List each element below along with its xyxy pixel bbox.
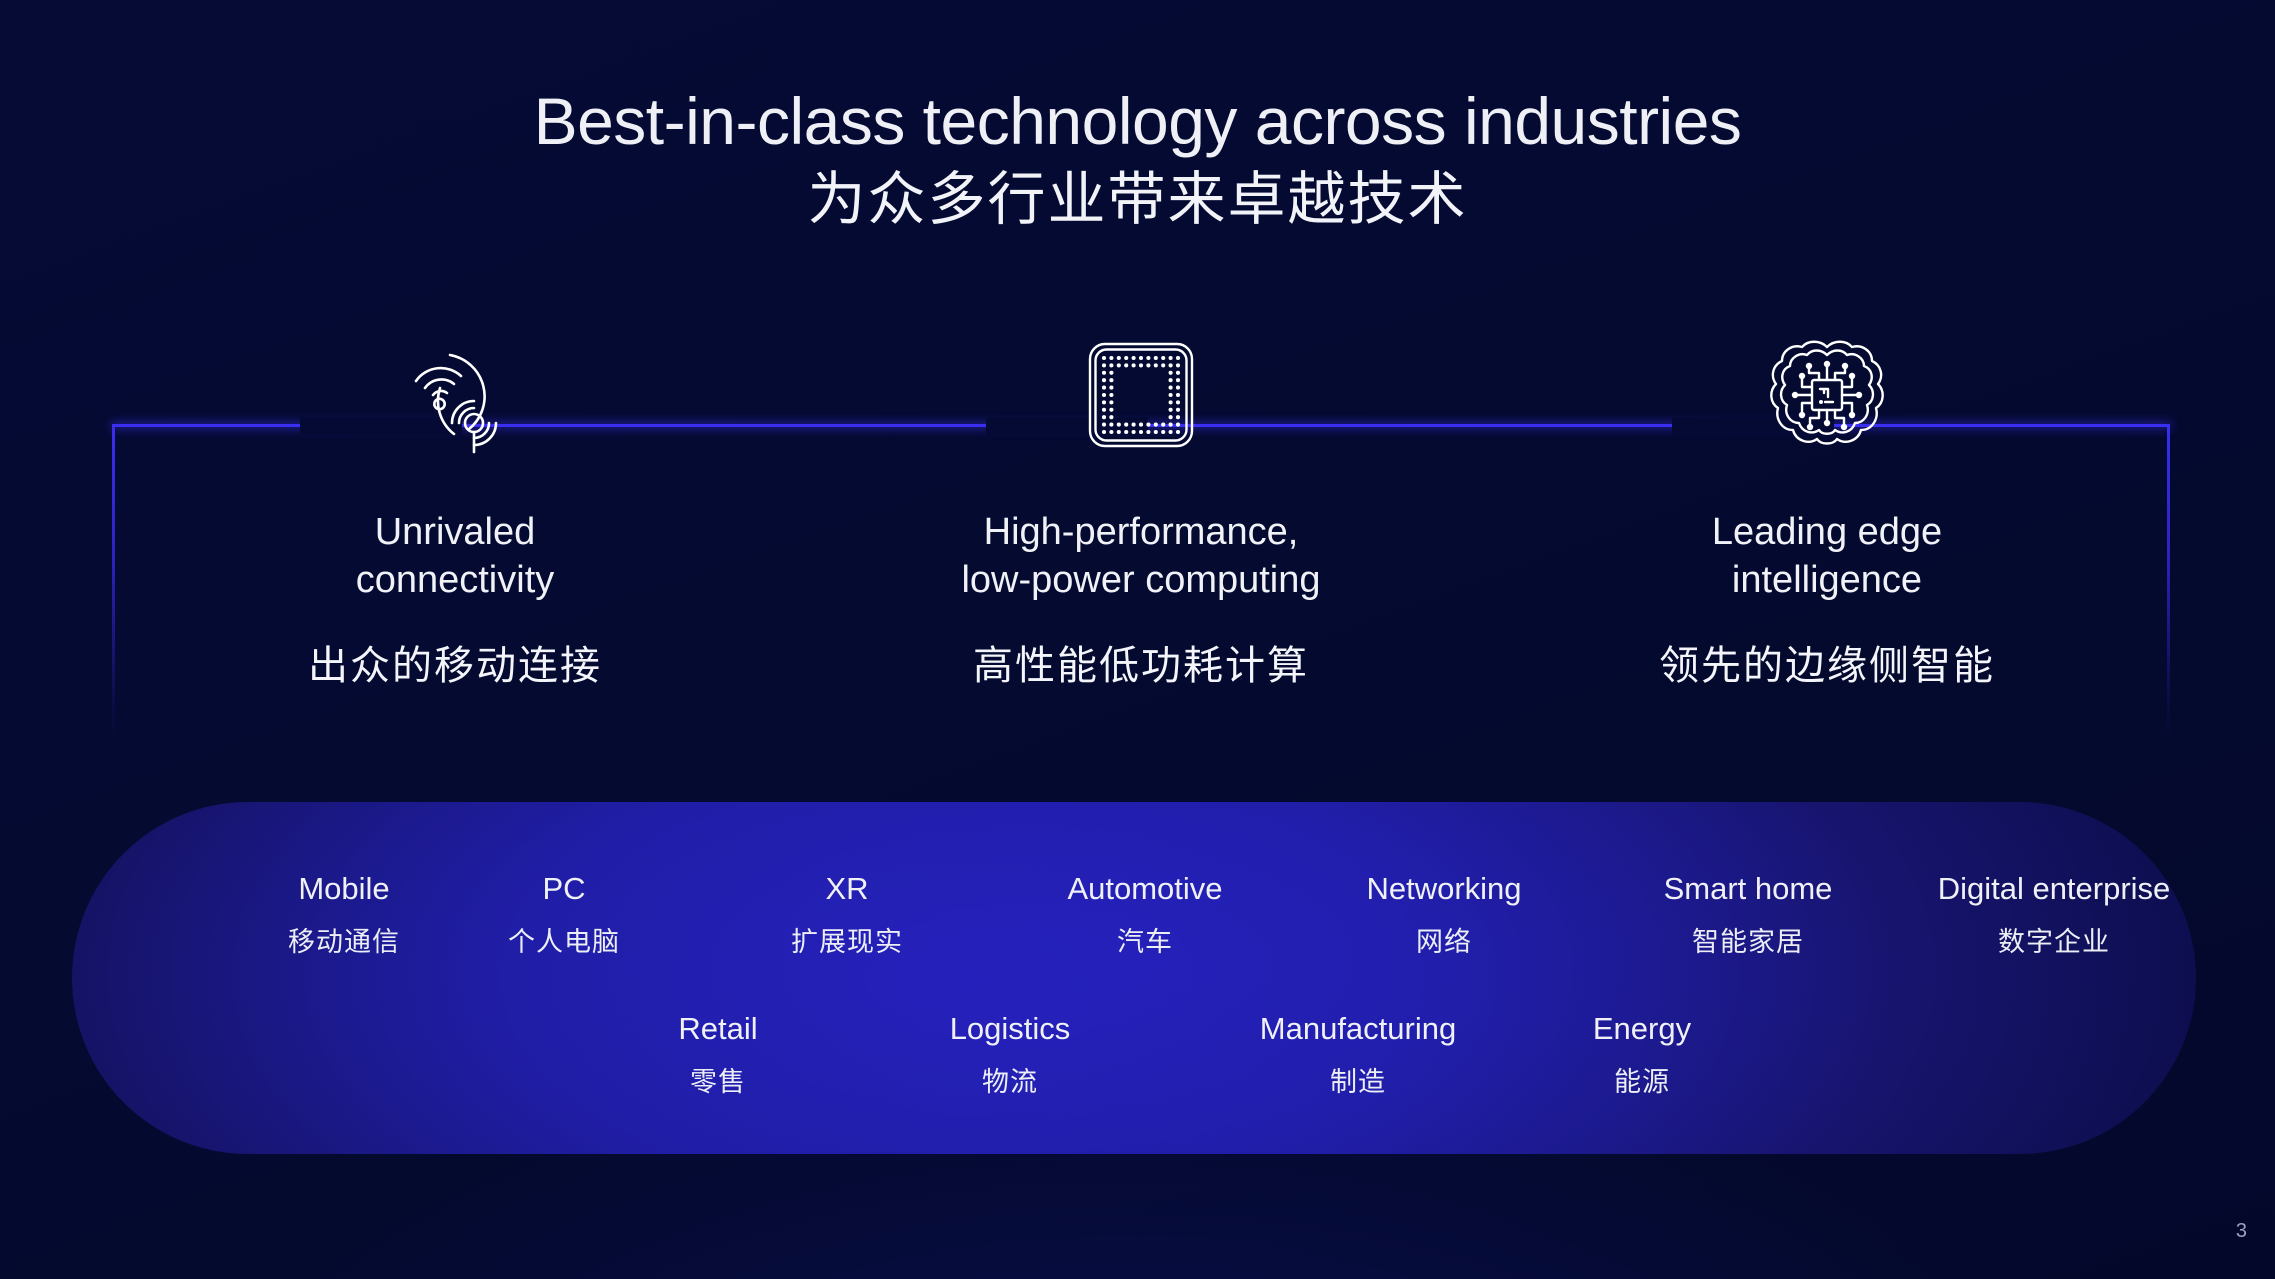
- industry-item[interactable]: Energy能源: [1593, 1010, 1691, 1099]
- industry-label-chinese: 汽车: [1067, 920, 1222, 959]
- ai-brain-icon: [1764, 330, 1890, 460]
- industry-label-english: Networking: [1366, 870, 1521, 907]
- industry-item[interactable]: Mobile移动通信: [288, 870, 400, 959]
- industry-label-english: PC: [508, 870, 620, 907]
- industry-label-chinese: 物流: [950, 1060, 1071, 1099]
- industries-pill-glow: [72, 802, 2196, 1154]
- industry-item[interactable]: Automotive汽车: [1067, 870, 1222, 959]
- title-chinese: 为众多行业带来卓越技术: [0, 167, 2275, 234]
- industry-label-chinese: 能源: [1593, 1060, 1691, 1099]
- industry-item[interactable]: XR扩展现实: [791, 870, 903, 959]
- industries-pill: Mobile移动通信PC个人电脑XR扩展现实Automotive汽车Networ…: [72, 802, 2196, 1154]
- industry-item[interactable]: Digital enterprise数字企业: [1938, 870, 2171, 959]
- industry-item[interactable]: Logistics物流: [950, 1010, 1071, 1099]
- pillar-computing: High-performance, low-power computing 高性…: [798, 330, 1484, 750]
- industry-item[interactable]: PC个人电脑: [508, 870, 620, 959]
- industry-label-chinese: 智能家居: [1664, 920, 1833, 959]
- pillar-connectivity: Unrivaled connectivity 出众的移动连接: [112, 330, 798, 750]
- industry-item[interactable]: Retail零售: [678, 1010, 757, 1099]
- pillar-title-english: Unrivaled connectivity: [356, 508, 555, 605]
- page-title: Best-in-class technology across industri…: [0, 86, 2275, 234]
- industry-label-chinese: 个人电脑: [508, 920, 620, 959]
- pillar-title-english: High-performance, low-power computing: [961, 508, 1320, 605]
- pillar-title-english: Leading edge intelligence: [1712, 508, 1942, 605]
- industry-label-english: Logistics: [950, 1010, 1071, 1047]
- industry-item[interactable]: Smart home智能家居: [1664, 870, 1833, 959]
- wireless-connectivity-icon: [394, 330, 516, 460]
- industry-label-chinese: 制造: [1260, 1060, 1456, 1099]
- pillar-intelligence: Leading edge intelligence 领先的边缘侧智能: [1484, 330, 2170, 750]
- industry-label-english: Energy: [1593, 1010, 1691, 1047]
- industry-item[interactable]: Manufacturing制造: [1260, 1010, 1456, 1099]
- industry-label-chinese: 数字企业: [1938, 920, 2171, 959]
- industry-label-english: Smart home: [1664, 870, 1833, 907]
- industry-label-english: Digital enterprise: [1938, 870, 2171, 907]
- page-number: 3: [2236, 1220, 2247, 1243]
- industry-label-english: Retail: [678, 1010, 757, 1047]
- pillar-title-chinese: 高性能低功耗计算: [973, 633, 1309, 691]
- industry-label-english: Automotive: [1067, 870, 1222, 907]
- industry-item[interactable]: Networking网络: [1366, 870, 1521, 959]
- pillar-title-chinese: 出众的移动连接: [308, 633, 602, 691]
- processor-chip-icon: [1082, 330, 1200, 460]
- industry-label-english: Mobile: [288, 870, 400, 907]
- industry-label-chinese: 扩展现实: [791, 920, 903, 959]
- slide-canvas: Best-in-class technology across industri…: [0, 0, 2275, 1279]
- pillar-title-chinese: 领先的边缘侧智能: [1659, 633, 1995, 691]
- title-english: Best-in-class technology across industri…: [0, 86, 2275, 157]
- industry-label-chinese: 移动通信: [288, 920, 400, 959]
- pillars-row: Unrivaled connectivity 出众的移动连接 High-perf…: [112, 330, 2170, 750]
- industry-label-english: XR: [791, 870, 903, 907]
- industry-label-chinese: 网络: [1366, 920, 1521, 959]
- industry-label-chinese: 零售: [678, 1060, 757, 1099]
- industry-label-english: Manufacturing: [1260, 1010, 1456, 1047]
